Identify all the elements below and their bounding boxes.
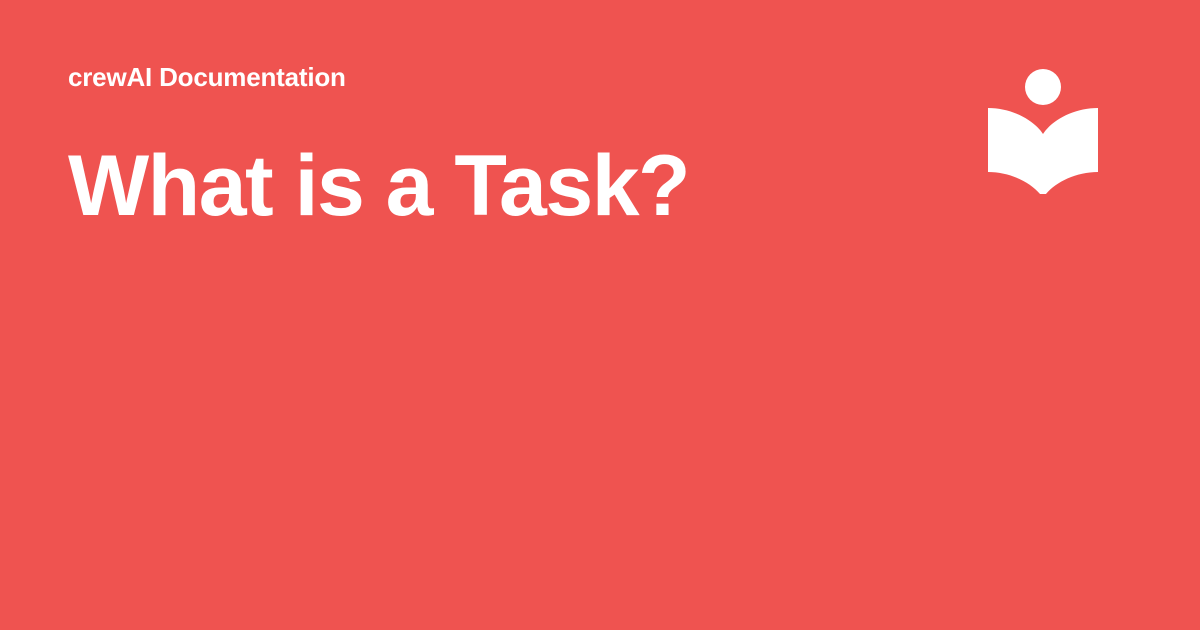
card-text-block: crewAI Documentation What is a Task? [68,62,928,231]
page-title: What is a Task? [68,141,928,231]
open-graph-card: crewAI Documentation What is a Task? [0,0,1200,630]
open-book-reader-logo-icon [984,66,1104,194]
site-label: crewAI Documentation [68,62,928,93]
logo-open-book-icon [988,108,1098,194]
logo-head-circle-icon [1025,69,1061,105]
